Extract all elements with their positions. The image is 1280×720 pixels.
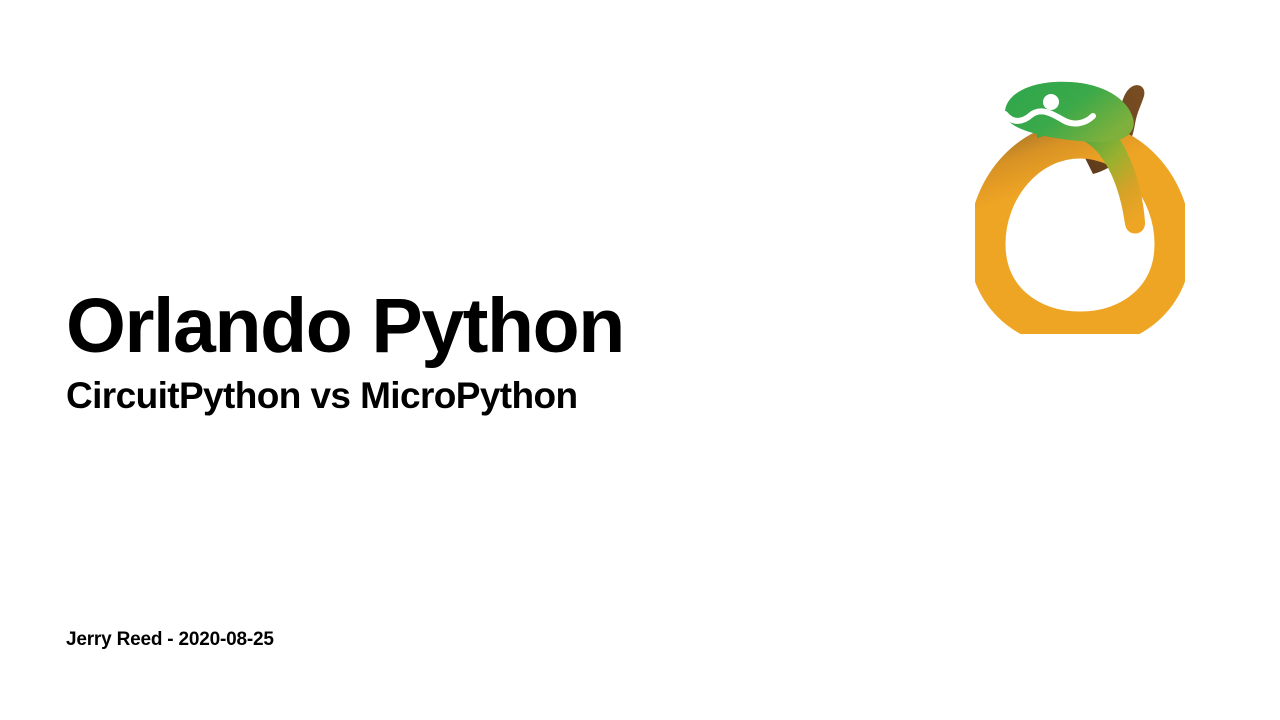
orlando-python-logo-icon: [975, 62, 1185, 334]
presenter-byline: Jerry Reed - 2020-08-25: [66, 629, 274, 651]
snake-head: [1005, 82, 1134, 142]
orlando-python-logo: [975, 62, 1185, 334]
snake-eye: [1043, 94, 1059, 110]
page-subtitle: CircuitPython vs MicroPython: [66, 377, 966, 414]
page-title: Orlando Python: [66, 288, 966, 365]
orange-ring: [987, 140, 1173, 330]
title-block: Orlando Python CircuitPython vs MicroPyt…: [66, 288, 966, 414]
title-slide: Orlando Python CircuitPython vs MicroPyt…: [0, 0, 1280, 720]
